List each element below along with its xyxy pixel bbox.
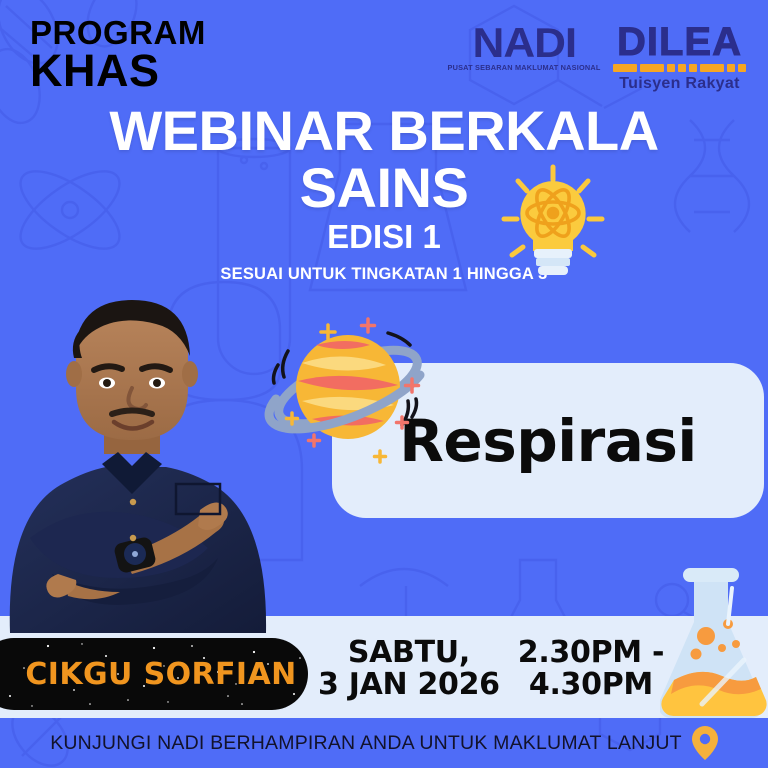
schedule-info: SABTU, 3 JAN 2026 2.30PM - 4.30PM — [318, 622, 678, 716]
headline-line-1: WEBINAR BERKALA — [0, 104, 768, 159]
dilea-tagline: Tuisyen Rakyat — [619, 75, 739, 93]
nadi-wordmark: NADI — [472, 24, 576, 62]
lightbulb-atom-icon — [498, 163, 608, 281]
planet-saturn-icon — [262, 305, 437, 470]
schedule-time-start: 2.30PM - — [518, 637, 664, 669]
time-block: 2.30PM - 4.30PM — [518, 637, 664, 702]
poster-header: PROGRAM KHAS NADI PUSAT SEBARAN MAKLUMAT… — [0, 0, 768, 100]
poster-canvas: PROGRAM KHAS NADI PUSAT SEBARAN MAKLUMAT… — [0, 0, 768, 768]
presenter-photo — [0, 288, 294, 633]
erlenmeyer-flask-icon — [660, 568, 768, 720]
program-label: PROGRAM — [30, 18, 206, 48]
map-pin-icon — [692, 726, 718, 760]
schedule-date: 3 JAN 2026 — [318, 669, 500, 701]
speaker-name: CIKGU SORFIAN — [0, 657, 297, 692]
headline-subtitle: SESUAI UNTUK TINGKATAN 1 HINGGA 3 — [0, 265, 768, 284]
topic-title: Respirasi — [399, 407, 697, 475]
nadi-tagline: PUSAT SEBARAN MAKLUMAT NASIONAL — [447, 63, 600, 72]
program-khas-title: PROGRAM KHAS — [30, 18, 206, 92]
dilea-dash-bar — [613, 64, 746, 72]
speaker-badge: CIKGU SORFIAN — [0, 638, 308, 710]
schedule-day: SABTU, — [318, 637, 500, 669]
schedule-time-end: 4.30PM — [518, 669, 664, 701]
logo-group: NADI PUSAT SEBARAN MAKLUMAT NASIONAL DIL… — [449, 24, 746, 93]
khas-label: KHAS — [30, 50, 206, 91]
nadi-logo: NADI PUSAT SEBARAN MAKLUMAT NASIONAL — [449, 24, 599, 72]
date-block: SABTU, 3 JAN 2026 — [318, 637, 500, 702]
edition-label: EDISI 1 — [0, 220, 768, 253]
dilea-logo: DILEA Tuisyen Rakyat — [613, 24, 746, 93]
headline-block: WEBINAR BERKALA SAINS EDISI 1 SESUAI UNT… — [0, 104, 768, 284]
headline-line-2: SAINS — [0, 159, 768, 216]
footer-bar: KUNJUNGI NADI BERHAMPIRAN ANDA UNTUK MAK… — [0, 718, 768, 768]
footer-call-to-action: KUNJUNGI NADI BERHAMPIRAN ANDA UNTUK MAK… — [50, 732, 682, 755]
dilea-wordmark: DILEA — [617, 24, 742, 61]
